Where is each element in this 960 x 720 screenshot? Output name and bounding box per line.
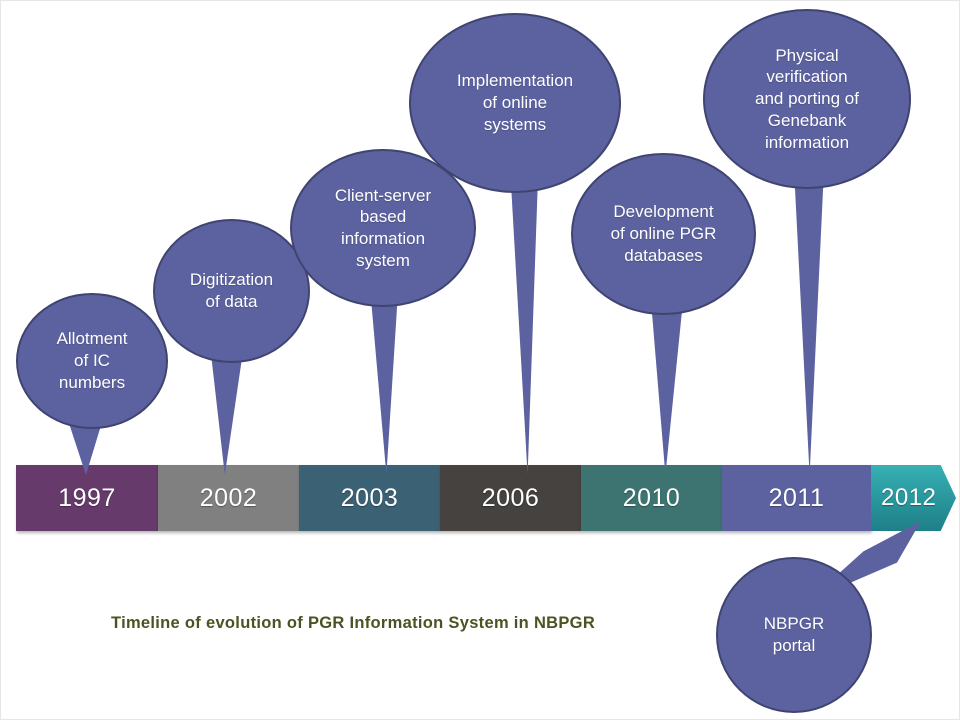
callout-bubble-2002[interactable]: Digitization of data <box>153 219 310 363</box>
timeline-bar: 1997 2002 2003 2006 2010 2011 2012 <box>16 465 956 531</box>
callout-bubble-1997[interactable]: Allotment of IC numbers <box>16 293 168 429</box>
timeline-segment-2010[interactable]: 2010 <box>581 465 722 531</box>
callout-tail-2010 <box>651 301 683 475</box>
callout-tail-2011 <box>794 169 824 475</box>
timeline-year-label: 2011 <box>769 486 825 511</box>
timeline-diagram: 1997 2002 2003 2006 2010 2011 2012 Allot… <box>0 0 960 720</box>
timeline-year-label: 2010 <box>623 486 681 511</box>
callout-text: Client-server based information system <box>325 185 441 272</box>
callout-bubble-2011[interactable]: Physical verification and porting of Gen… <box>703 9 911 189</box>
callout-text: Development of online PGR databases <box>601 201 727 266</box>
timeline-segment-2006[interactable]: 2006 <box>440 465 581 531</box>
timeline-segment-2003[interactable]: 2003 <box>299 465 440 531</box>
timeline-year-label: 2006 <box>482 486 540 511</box>
timeline-year-label: 2012 <box>881 486 936 510</box>
timeline-year-label: 2002 <box>200 486 258 511</box>
callout-tail-2006 <box>509 149 539 475</box>
diagram-caption: Timeline of evolution of PGR Information… <box>111 614 595 633</box>
timeline-segment-2002[interactable]: 2002 <box>158 465 299 531</box>
callout-bubble-2006[interactable]: Implementation of online systems <box>409 13 621 193</box>
callout-text: Allotment of IC numbers <box>47 328 138 393</box>
callout-text: NBPGR portal <box>754 613 834 657</box>
callout-bubble-2010[interactable]: Development of online PGR databases <box>571 153 756 315</box>
timeline-year-label: 2003 <box>341 486 399 511</box>
timeline-segment-2012[interactable]: 2012 <box>871 465 956 531</box>
callout-bubble-2012[interactable]: NBPGR portal <box>716 557 872 713</box>
callout-text: Implementation of online systems <box>447 70 583 135</box>
callout-text: Digitization of data <box>180 269 283 313</box>
timeline-segment-1997[interactable]: 1997 <box>16 465 158 531</box>
timeline-segment-2011[interactable]: 2011 <box>722 465 871 531</box>
callout-text: Physical verification and porting of Gen… <box>745 45 869 154</box>
timeline-year-label: 1997 <box>58 486 116 511</box>
